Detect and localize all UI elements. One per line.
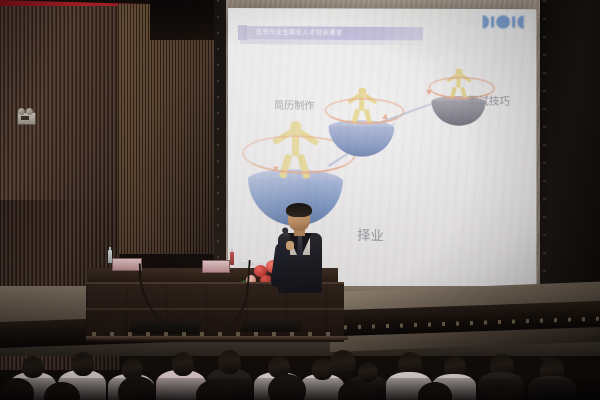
slide-label-resume: 简历制作 — [274, 97, 314, 113]
stage-curtain-left — [214, 0, 226, 300]
water-bottle-left — [108, 250, 112, 263]
lecture-hall-photo: 优秀毕业生职业人才培训课堂 择业 — [0, 0, 600, 400]
audience-member — [172, 352, 194, 376]
emergency-exit-light-icon — [17, 112, 36, 125]
audience-member — [22, 356, 44, 378]
slide-label-career: 择业 — [357, 224, 384, 244]
slide-title-bar: 优秀毕业生职业人才培训课堂 — [244, 26, 423, 40]
foreground-shadow — [0, 378, 600, 400]
audience-member — [218, 350, 241, 374]
equipment-case — [241, 318, 304, 332]
slide-title-bar-underline — [240, 39, 423, 45]
audience-member-with-glasses — [330, 350, 356, 376]
slide-label-interview: 面试技巧 — [468, 92, 510, 108]
bowl-resume — [329, 120, 395, 158]
blue-globe-logo-icon — [483, 15, 524, 29]
speaker-presenter — [274, 205, 326, 293]
eyeglasses-icon — [340, 364, 354, 369]
speaker-hand — [286, 241, 294, 250]
head-table-bottom-edge — [86, 336, 348, 340]
wood-slat-wall-left — [0, 6, 120, 206]
bowl-resume-dish — [329, 126, 395, 158]
name-placard-left — [112, 258, 142, 271]
wood-slat-wall-mid — [118, 4, 228, 254]
slide-title-bar-cap — [238, 25, 247, 40]
audience-member — [72, 352, 94, 376]
speaker-hair — [286, 203, 312, 217]
stage-edge-highlight — [92, 332, 332, 336]
slide-title: 优秀毕业生职业人才培训课堂 — [256, 27, 343, 37]
